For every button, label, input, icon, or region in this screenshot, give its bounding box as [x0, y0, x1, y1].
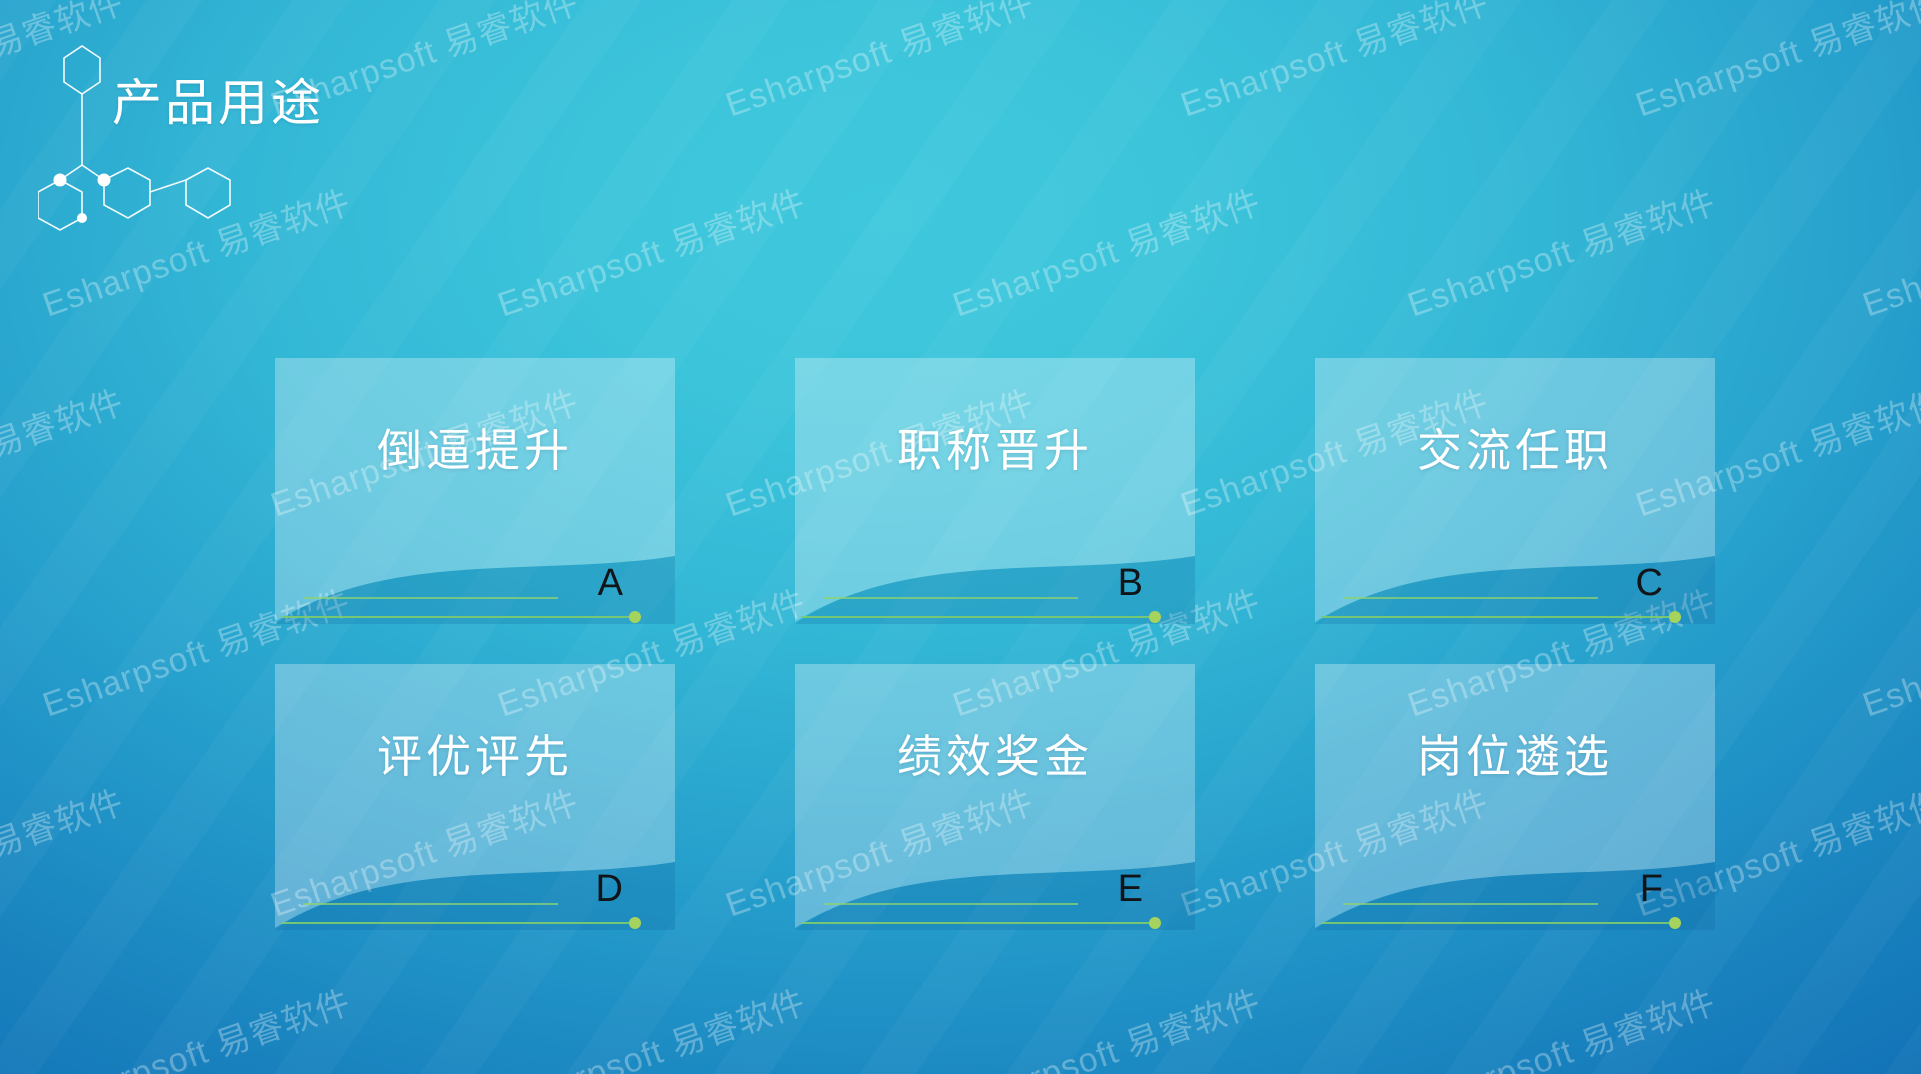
- card-grid: 倒逼提升 A 职称晋升 B 交流任职 C: [275, 358, 1715, 930]
- watermark-text: Esharpsoft 易睿软件: [0, 375, 129, 526]
- card-label: 倒逼提升: [275, 428, 675, 473]
- watermark-text: Esharpsoft 易睿软件: [0, 775, 129, 926]
- watermark-text: Esharpsoft 易睿软件: [1173, 0, 1494, 126]
- page-title: 产品用途: [112, 74, 324, 133]
- watermark-text: Esharpsoft 易睿软件: [1855, 575, 1921, 726]
- card-item[interactable]: 评优评先 D: [275, 664, 675, 930]
- watermark-text: Esharpsoft 易睿软件: [490, 175, 811, 326]
- watermark-text: Esharpsoft 易睿软件: [945, 175, 1266, 326]
- watermark-text: Esharpsoft 易睿软件: [718, 0, 1039, 126]
- card-item[interactable]: 职称晋升 B: [795, 358, 1195, 624]
- slide-canvas: Esharpsoft 易睿软件Esharpsoft 易睿软件Esharpsoft…: [0, 0, 1921, 1074]
- watermark-text: Esharpsoft 易睿软件: [1400, 175, 1721, 326]
- watermark-text: Esharpsoft 易睿软件: [1628, 0, 1921, 126]
- card-letter: C: [1636, 564, 1663, 602]
- card-item[interactable]: 岗位遴选 F: [1315, 664, 1715, 930]
- card-label: 评优评先: [275, 734, 675, 779]
- watermark-text: Esharpsoft 易睿软件: [35, 975, 356, 1074]
- card-letter: F: [1640, 870, 1663, 908]
- card-letter: E: [1118, 870, 1143, 908]
- card-item[interactable]: 绩效奖金 E: [795, 664, 1195, 930]
- card-label: 绩效奖金: [795, 734, 1195, 779]
- card-label: 交流任职: [1315, 428, 1715, 473]
- card-letter: D: [596, 870, 623, 908]
- watermark-text: Esharpsoft 易睿软件: [1400, 975, 1721, 1074]
- card-label: 岗位遴选: [1315, 734, 1715, 779]
- card-letter: B: [1118, 564, 1143, 602]
- card-label: 职称晋升: [795, 428, 1195, 473]
- card-letter: A: [598, 564, 623, 602]
- card-item[interactable]: 倒逼提升 A: [275, 358, 675, 624]
- watermark-text: Esharpsoft 易睿软件: [490, 975, 811, 1074]
- watermark-text: Esharpsoft 易睿软件: [1855, 175, 1921, 326]
- card-item[interactable]: 交流任职 C: [1315, 358, 1715, 624]
- watermark-text: Esharpsoft 易睿软件: [1855, 975, 1921, 1074]
- watermark-text: Esharpsoft 易睿软件: [945, 975, 1266, 1074]
